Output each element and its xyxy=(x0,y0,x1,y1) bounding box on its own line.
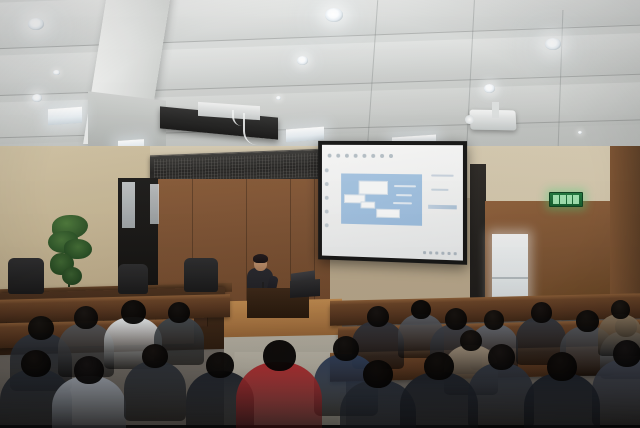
person-head xyxy=(488,344,515,370)
person-head xyxy=(531,302,552,323)
person-head xyxy=(28,316,54,340)
person-head xyxy=(206,352,234,378)
audience-person xyxy=(524,352,600,428)
person-head xyxy=(142,344,168,368)
person-head xyxy=(367,306,389,327)
person-head xyxy=(333,336,359,361)
person-shoulders xyxy=(524,373,600,428)
person-shoulders xyxy=(400,372,478,428)
person-head xyxy=(445,308,467,330)
person-head xyxy=(21,350,51,377)
person-head xyxy=(121,300,146,324)
person-head xyxy=(547,352,577,381)
audience-person xyxy=(400,352,478,428)
person-head xyxy=(411,300,431,319)
person-head xyxy=(74,356,104,384)
person-head xyxy=(576,310,599,332)
person-head xyxy=(168,302,190,323)
person-head xyxy=(363,360,393,388)
person-head xyxy=(424,352,454,380)
person-shoulders xyxy=(236,362,322,428)
person-head xyxy=(74,306,98,329)
person-head xyxy=(613,340,640,367)
audience-person xyxy=(236,340,322,428)
person-head xyxy=(611,300,630,319)
person-head xyxy=(263,340,296,371)
audience-person xyxy=(124,344,186,428)
lecture-hall-photo xyxy=(0,0,640,428)
person-head xyxy=(484,310,504,330)
audience-person xyxy=(52,356,126,428)
person-shoulders xyxy=(124,361,186,421)
